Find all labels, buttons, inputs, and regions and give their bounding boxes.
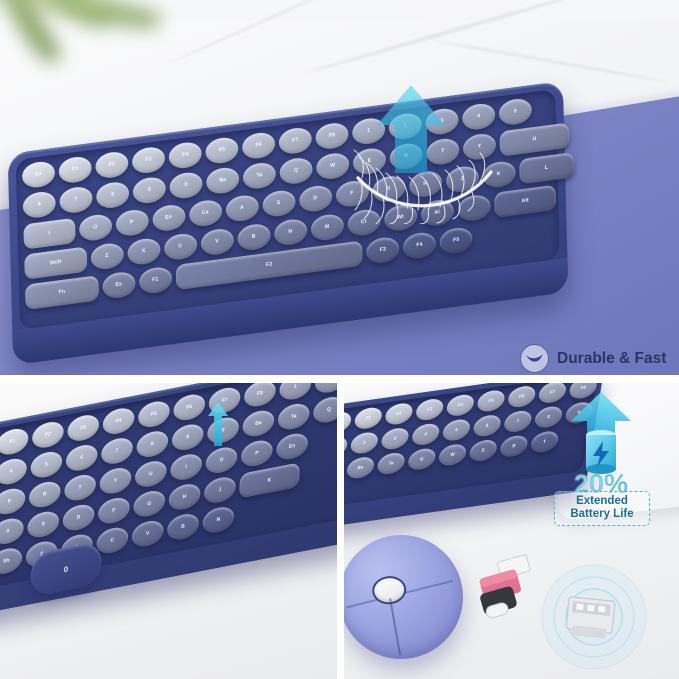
keycap: N [274,218,307,247]
detached-keycap-label: 0 [64,564,69,574]
keycap: 9 [171,422,204,453]
keycap: Es [344,410,353,434]
feature-label-durable: Durable & Fast [520,344,666,373]
cyan-up-arrow-icon [375,83,447,175]
keycap: K [239,462,300,498]
keycap: Shift [24,247,87,280]
keycap: F3 [366,236,399,265]
keycap: U [134,459,167,490]
keycap: F4 [169,141,202,170]
keycap: 4 [0,456,27,487]
keycap: D [299,184,332,213]
panel-divider-vertical [337,375,344,679]
battery-badge: 20% Extended Battery Life [536,391,666,531]
keycap: Alt [494,185,557,218]
keycap: R [499,434,529,458]
keycap: 2 [349,431,379,455]
feather-icon [520,344,549,373]
keycap: 9 [133,176,166,205]
keycap: F4 [403,231,436,260]
keycap: B [167,511,200,542]
hero-panel: EsF1F2F3F4F5F6F7F81234567890BaTaQWERTYUI… [0,0,679,375]
keycap: S [262,189,295,218]
keycap: P [115,208,148,237]
keycap: I [170,452,203,483]
battery-caption-line2: Battery Life [559,508,645,521]
keycap: 6 [472,414,502,438]
battery-caption-line1: Extended [559,495,645,508]
keycap: F4 [102,406,135,437]
keycap: En [276,431,309,462]
keycap [457,193,490,222]
keycap: Ba [242,408,275,439]
panel-compatibility: EsF1F2F3F4F5F6F7F81234567890BaTaQWERT [344,383,679,679]
keycap: 2 [314,383,337,395]
keycap: E [0,486,26,517]
keycap: F1 [353,406,383,430]
keycap: 3 [380,426,410,450]
keycap: M [310,213,343,242]
keycap: F5 [138,399,171,430]
keycap: W [316,151,349,180]
keycap: A [225,194,258,223]
keycap: F3 [132,145,165,174]
keycap: En [152,203,185,232]
keycap: Ba [345,456,375,480]
keycap: F6 [242,131,275,160]
keycap: F8 [315,121,348,150]
keycap: Y [99,465,132,496]
keycap: 5 [499,97,532,126]
keycap: G [372,174,405,203]
keycap: Fn [25,275,99,310]
keycap: F1 [139,266,172,295]
keycap: I [23,218,75,250]
keycap: Es [22,160,55,189]
keycap: F5 [476,389,506,413]
keycap: J [204,475,237,506]
keycap: Y [463,132,496,161]
keycap: 7 [101,436,134,467]
feature-label-text: Durable & Fast [557,350,666,368]
keycap: N [202,505,235,536]
keycap: F4 [445,393,475,417]
keycap: W [437,443,467,467]
keycap: 6 [65,442,98,473]
keycap: Ct [347,208,380,237]
keycap: 0 [344,460,345,484]
keycap: Ta [277,401,310,432]
keycap: 4 [411,422,441,446]
keycap: B [237,222,270,251]
keycap: O [78,213,111,242]
keycap: P [240,438,273,469]
keycap: 8 [96,180,129,209]
keycap: F [98,495,131,526]
keycap: 4 [462,102,495,131]
keycap: WI [384,203,417,232]
keycap: F3 [415,397,445,421]
keycap: C [96,525,129,556]
keycap: 0 [169,171,202,200]
keycap: Ba [206,166,239,195]
keycap: Ta [243,161,276,190]
keycap: F1 [59,155,92,184]
keycap: Ca [188,199,221,228]
mouse-button-split [389,598,401,655]
keycap: S [27,509,60,540]
keycap: O [205,445,238,476]
keycap: Q [313,394,337,425]
usb-receiver [557,580,625,642]
keycap: F3 [67,413,100,444]
keycap: F5 [205,136,238,165]
keycap: F2 [95,150,128,179]
keycap: R [28,479,61,510]
keycap: Al [420,198,453,227]
battery-caption: Extended Battery Life [554,491,650,526]
keycap: V [131,518,164,549]
keycap: 5 [441,418,471,442]
keycap: 8 [136,429,169,460]
keycap: 7 [59,185,92,214]
plant-decoration [0,0,200,110]
keycap: G [133,488,166,519]
keycap: F8 [244,383,277,409]
keycap: H [168,482,201,513]
keycap: 1 [279,383,312,402]
keycap: D [62,502,95,533]
keycap: Q [407,447,437,471]
keycap: F6 [507,384,537,408]
keycap: Sh [0,546,23,577]
keycap: F1 [0,426,29,457]
keycap: Z [90,242,123,271]
keycap: A [0,516,24,547]
keycap: 1 [344,435,349,459]
keycap: F7 [279,126,312,155]
keycap: F [335,179,368,208]
keycap: Ta [376,451,406,475]
keycap: F2 [384,402,414,426]
keycap: T [64,472,97,503]
panel-fade-proof: EsF1F2F3F4F5F6F7F81234567890BaTaQWERTYUI… [0,383,337,679]
cyan-up-arrow-icon [207,401,229,447]
keycap: J [445,165,478,194]
keycap: E [468,438,498,462]
keycap: X [127,237,160,266]
product-feature-image: EsF1F2F3F4F5F6F7F81234567890BaTaQWERTYUI… [0,0,679,679]
keycap: C [164,232,197,261]
keycap: 6 [23,190,56,219]
keycap: 5 [30,449,63,480]
keycap: F5 [440,226,473,255]
keycap: K [482,160,515,189]
keycap: F6 [173,392,206,423]
keycap: 7 [503,409,533,433]
keycap: U [500,122,570,156]
keycap: Es [102,270,135,299]
keycap: F2 [32,419,65,450]
keycap: V [200,227,233,256]
keycap: Q [279,156,312,185]
